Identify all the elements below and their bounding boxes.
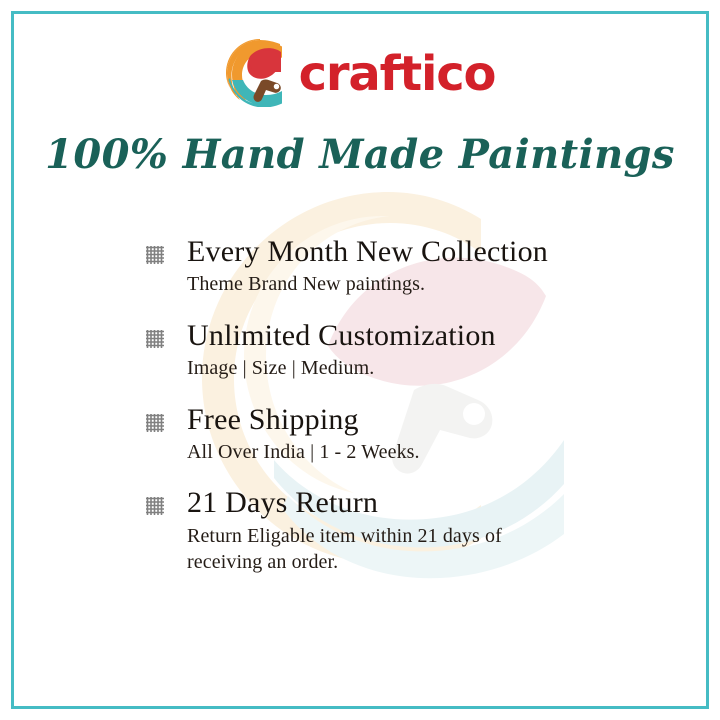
list-item: 21 Days Return Return Eligable item with… <box>145 487 615 575</box>
list-item-subtitle: All Over India | 1 - 2 Weeks. <box>187 439 615 465</box>
woven-grid-square-icon <box>145 245 165 265</box>
list-item-body: Every Month New Collection Theme Brand N… <box>187 236 615 298</box>
woven-grid-square-icon <box>145 329 165 349</box>
list-item: Free Shipping All Over India | 1 - 2 Wee… <box>145 404 615 466</box>
list-item-subtitle: Return Eligable item within 21 days of r… <box>187 523 547 576</box>
brand-wordmark: craftico <box>299 50 496 98</box>
brand-logo-lockup: craftico <box>0 33 720 111</box>
list-item-title: Free Shipping <box>187 404 615 436</box>
list-item-body: 21 Days Return Return Eligable item with… <box>187 487 615 575</box>
list-item: Unlimited Customization Image | Size | M… <box>145 320 615 382</box>
woven-grid-square-icon <box>145 413 165 433</box>
list-item-subtitle: Theme Brand New paintings. <box>187 271 615 297</box>
list-item-title: Unlimited Customization <box>187 320 615 352</box>
list-item-body: Free Shipping All Over India | 1 - 2 Wee… <box>187 404 615 466</box>
promo-poster: craftico 100% Hand Made Paintings <box>0 0 720 720</box>
list-item-title: Every Month New Collection <box>187 236 615 268</box>
list-item-subtitle: Image | Size | Medium. <box>187 355 615 381</box>
feature-list: Every Month New Collection Theme Brand N… <box>145 236 615 576</box>
page-title: 100% Hand Made Paintings <box>0 131 720 178</box>
list-item-title: 21 Days Return <box>187 487 615 519</box>
list-item: Every Month New Collection Theme Brand N… <box>145 236 615 298</box>
woven-grid-square-icon <box>145 496 165 516</box>
list-item-body: Unlimited Customization Image | Size | M… <box>187 320 615 382</box>
craftico-c-paintbrush-logo-icon <box>225 37 285 107</box>
